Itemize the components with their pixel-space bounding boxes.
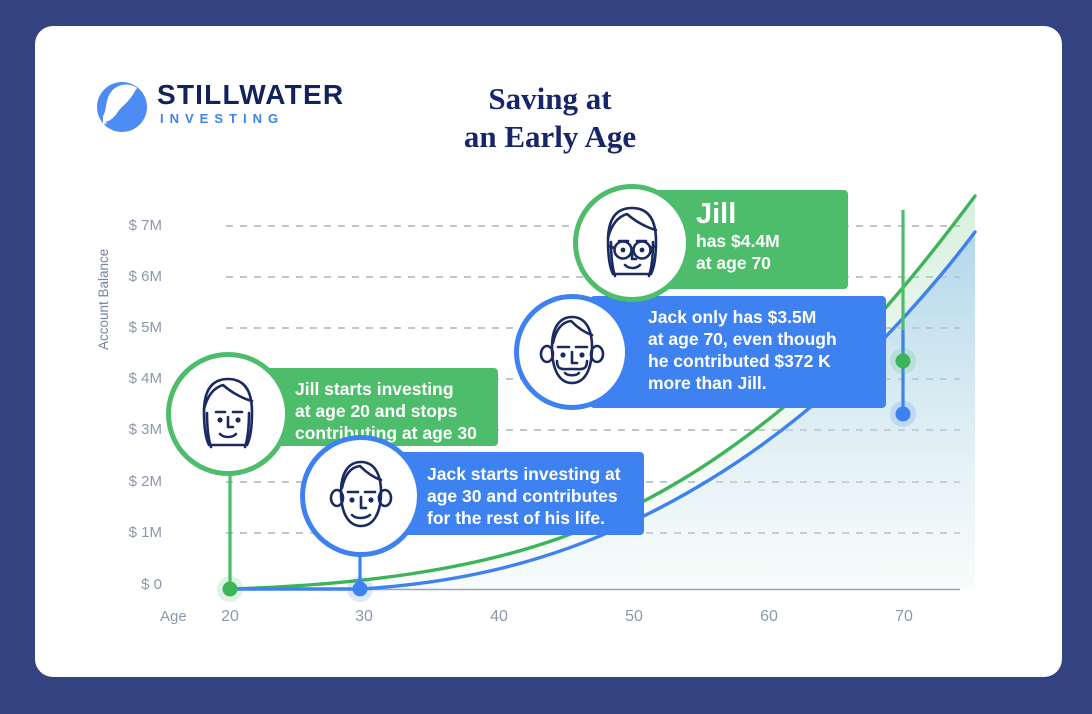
y-tick-3m: $ 3M [98, 421, 162, 438]
x-axis-label: Age [160, 608, 187, 625]
y-tick-1m: $ 1M [98, 524, 162, 541]
callout-jack-start-line-1: Jack starts investing at [427, 463, 630, 485]
y-tick-4m: $ 4M [98, 370, 162, 387]
jill-glasses-avatar-icon[interactable] [573, 184, 691, 302]
callout-jill-start-line-1: Jill starts investing [295, 378, 484, 400]
callout-jill-result-line-1: has $4.4M [696, 230, 836, 252]
jack-beard-avatar-icon[interactable] [514, 294, 630, 410]
callout-jack-result-line-4: more than Jill. [648, 372, 874, 394]
callout-jill-result-line-2: at age 70 [696, 252, 836, 274]
y-tick-2m: $ 2M [98, 473, 162, 490]
jack-end-marker [890, 401, 916, 427]
callout-jack-result-line-2: at age 70, even though [648, 328, 874, 350]
callout-jack-result-line-3: he contributed $372 K [648, 350, 874, 372]
y-tick-0: $ 0 [98, 576, 162, 593]
x-tick-30: 30 [339, 608, 389, 626]
callout-jack-result-box: Jack only has $3.5M at age 70, even thou… [590, 296, 886, 408]
jill-avatar-icon[interactable] [166, 352, 290, 476]
x-tick-70: 70 [879, 608, 929, 626]
callout-jill-result-heading: Jill [696, 198, 836, 230]
callout-jill-start-line-2: at age 20 and stops [295, 400, 484, 422]
jack-start-marker [347, 576, 373, 602]
x-tick-20: 20 [205, 608, 255, 626]
jill-start-marker [217, 576, 243, 602]
y-tick-5m: $ 5M [98, 319, 162, 336]
infographic-stage: STILLWATER INVESTING Saving at an Early … [0, 0, 1092, 714]
callout-jack-start-line-3: for the rest of his life. [427, 507, 630, 529]
y-tick-7m: $ 7M [98, 217, 162, 234]
callout-jack-start-line-2: age 30 and contributes [427, 485, 630, 507]
x-tick-50: 50 [609, 608, 659, 626]
jill-end-marker [890, 348, 916, 374]
y-tick-6m: $ 6M [98, 268, 162, 285]
x-tick-60: 60 [744, 608, 794, 626]
x-tick-40: 40 [474, 608, 524, 626]
callout-jack-result-line-1: Jack only has $3.5M [648, 306, 874, 328]
jack-avatar-icon[interactable] [300, 435, 422, 557]
